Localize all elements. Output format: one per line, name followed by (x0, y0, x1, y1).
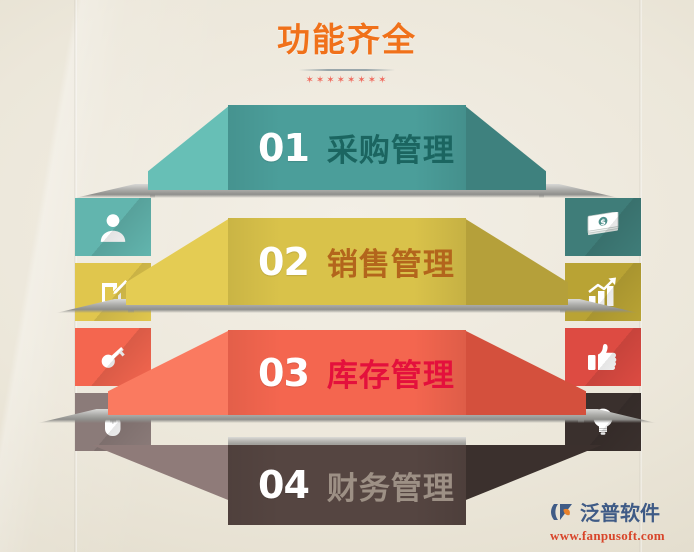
band-wing-left-02 (126, 218, 230, 305)
band-shadow-wing-right-03 (578, 409, 656, 423)
logo-row: 泛普软件 (550, 501, 686, 527)
infographic-canvas: 功能齐全 ✶✶✶✶✶✶✶✶ (0, 0, 694, 552)
band-wing-right-01 (464, 105, 546, 190)
band-shadow-wing-right-02 (560, 299, 638, 313)
band-wing-left-04 (92, 445, 230, 527)
band-number-01: 01 (258, 126, 309, 170)
band-number-04: 04 (258, 463, 309, 507)
band-wing-left-03 (108, 330, 230, 415)
band-shadow-wing-left-02 (56, 299, 134, 313)
logo-url: www.fanpusoft.com (550, 528, 686, 544)
band-shadow-wing-right-01 (539, 184, 619, 198)
band-wing-right-03 (464, 330, 586, 415)
band-wing-right-02 (464, 218, 568, 305)
band-face-02: 02 销售管理 (228, 218, 466, 305)
band-shadow-wing-left-03 (38, 409, 116, 423)
brand-logo[interactable]: 泛普软件 www.fanpusoft.com (550, 501, 686, 544)
logo-name: 泛普软件 (580, 503, 660, 525)
ribbon-stack: 01 采购管理 02 销售管理 03 库存管理 (0, 0, 694, 552)
band-shadow-wing-left-01 (75, 184, 155, 198)
band-label-02: 销售管理 (327, 239, 455, 284)
band-face-03: 03 库存管理 (228, 330, 466, 415)
band-face-04: 04 财务管理 (228, 445, 466, 525)
band-number-03: 03 (258, 351, 309, 395)
band-wing-left-01 (148, 105, 230, 190)
band-number-02: 02 (258, 240, 309, 284)
band-label-01: 采购管理 (327, 125, 455, 170)
band-face-01: 01 采购管理 (228, 105, 466, 190)
fanpu-logo-mark (550, 500, 576, 529)
band-label-03: 库存管理 (327, 350, 455, 395)
band-label-04: 财务管理 (327, 463, 455, 508)
